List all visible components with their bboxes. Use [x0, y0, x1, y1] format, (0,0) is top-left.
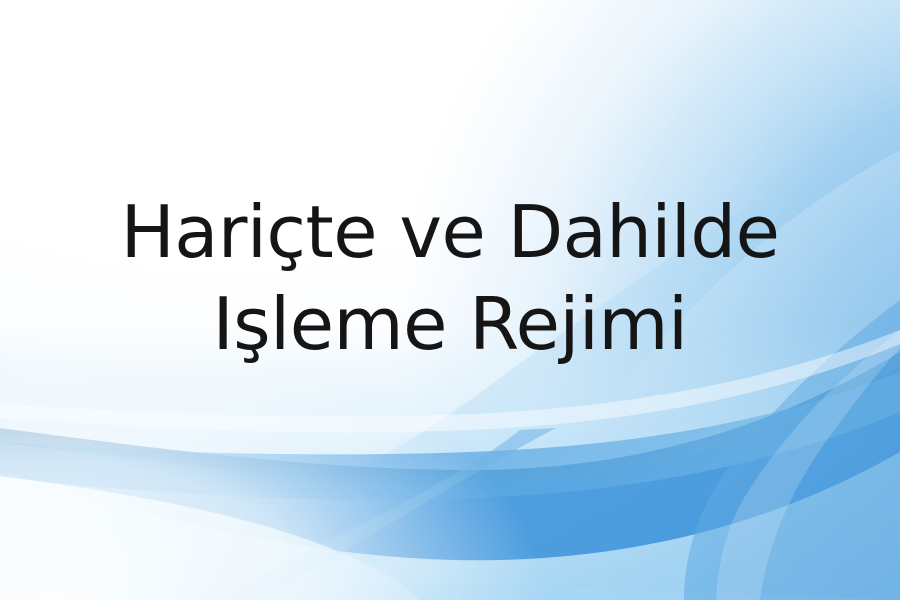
page-title: Hariçte ve Dahilde Işleme Rejimi — [0, 186, 900, 370]
title-banner: Hariçte ve Dahilde Işleme Rejimi — [0, 0, 900, 600]
title-line-2: Işleme Rejimi — [0, 278, 900, 370]
title-line-1: Hariçte ve Dahilde — [0, 186, 900, 278]
